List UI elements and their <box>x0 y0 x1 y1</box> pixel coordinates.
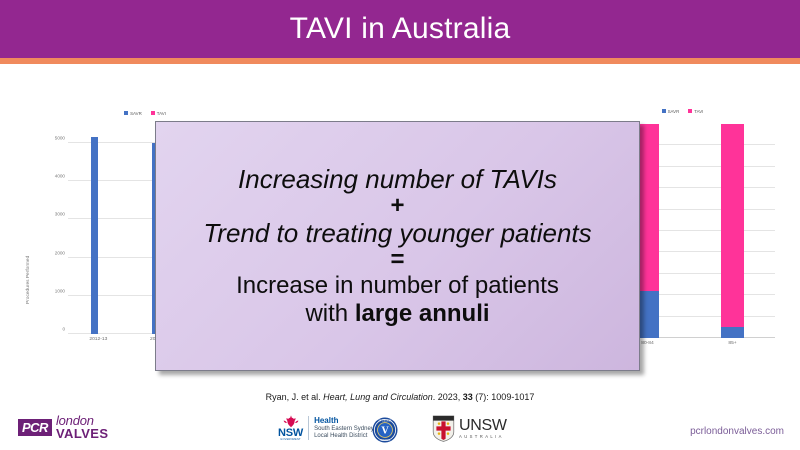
callout-line-4-prefix: with <box>305 300 354 327</box>
citation-volume: 33 <box>463 392 473 402</box>
nsw-health-word: Health <box>314 416 374 426</box>
unsw-name: UNSW <box>459 418 507 435</box>
nsw-government-block: NSW GOVERNMENT <box>278 415 303 442</box>
legend-swatch-tavi-icon <box>151 111 155 115</box>
slide-footer: PCR london VALVES NSW <box>0 410 800 450</box>
legend-label-savr: SAVR <box>130 111 142 116</box>
nsw-district-line-2: Local Health District <box>314 433 374 441</box>
header-accent-bar <box>0 58 800 64</box>
y-axis-tick-label: 0 <box>62 327 65 332</box>
y-axis-tick-label: 5000 <box>55 136 65 141</box>
legend-entry-tavi: TAVI <box>151 111 166 116</box>
callout-line-2: Trend to treating younger patients <box>166 218 629 248</box>
callout-line-4-emphasis: large annuli <box>355 300 490 327</box>
legend-swatch-savr-icon <box>662 109 666 113</box>
pcr-london-valves-logo: PCR london VALVES <box>18 414 108 440</box>
legend-label-tavi: TAVI <box>157 111 166 116</box>
legend-swatch-savr-icon <box>124 111 128 115</box>
legend-entry-savr: SAVR <box>662 109 680 114</box>
callout-line-4: with large annuli <box>166 300 629 328</box>
pcr-wordmark: london VALVES <box>56 414 108 440</box>
callout-operator-plus: + <box>166 194 629 218</box>
bar-segment-tavi-85+ <box>721 124 743 327</box>
citation: Ryan, J. et al. Heart, Lung and Circulat… <box>0 392 800 402</box>
unsw-subtitle: AUSTRALIA <box>459 435 507 439</box>
callout-line-3: Increase in number of patients <box>166 272 629 300</box>
logo-divider <box>308 416 309 440</box>
x-axis-tick-label: 85+ <box>728 341 736 346</box>
citation-journal: Heart, Lung and Circulation <box>323 392 433 402</box>
callout-line-1: Increasing number of TAVIs <box>166 164 629 194</box>
unsw-wordmark: UNSW AUSTRALIA <box>459 418 507 439</box>
bar-segment-savr-85+ <box>721 327 743 338</box>
callout-textbox: Increasing number of TAVIs + Trend to tr… <box>155 121 640 371</box>
unsw-crest-icon <box>432 415 455 442</box>
callout-operator-equals: = <box>166 248 629 272</box>
y-axis-tick-label: 4000 <box>55 174 65 179</box>
y-axis-tick-label: 2000 <box>55 250 65 255</box>
svg-text:ST GEORGE: ST GEORGE <box>379 419 392 422</box>
citation-authors: Ryan, J. et al. <box>266 392 324 402</box>
legend-label-tavi: TAVI <box>694 109 703 114</box>
nsw-health-text-block: Health South Eastern Sydney Local Health… <box>314 416 374 441</box>
stacked-bar-85+ <box>721 124 743 338</box>
pcr-valves-text: VALVES <box>56 427 108 440</box>
page-title: TAVI in Australia <box>0 0 800 58</box>
chart-left-yaxis-title: Procedures Performed <box>26 256 31 304</box>
y-axis-tick-label: 3000 <box>55 212 65 217</box>
svg-text:HOSPITAL: HOSPITAL <box>380 439 391 442</box>
legend-swatch-tavi-icon <box>688 109 692 113</box>
nsw-health-logo: NSW GOVERNMENT Health South Eastern Sydn… <box>278 415 374 442</box>
unsw-logo: UNSW AUSTRALIA <box>432 415 507 442</box>
legend-entry-tavi: TAVI <box>688 109 703 114</box>
nsw-government-word: GOVERNMENT <box>280 439 301 442</box>
chart-left-legend: SAVR TAVI <box>20 108 270 118</box>
svg-text:V: V <box>381 426 390 436</box>
citation-year: . 2023, <box>433 392 463 402</box>
footer-url: pcrlondonvalves.com <box>690 426 784 437</box>
x-axis-tick-label: 80-84 <box>641 341 654 346</box>
chart-right-legend: SAVR TAVI <box>565 106 800 116</box>
citation-issue-pages: (7): 1009-1017 <box>473 392 535 402</box>
legend-label-savr: SAVR <box>668 109 680 114</box>
bar-savr-2012-13 <box>91 137 98 334</box>
x-axis-tick-label: 2012-13 <box>89 337 107 342</box>
nsw-district-line-1: South Eastern Sydney <box>314 426 374 434</box>
y-axis-tick-label: 1000 <box>55 288 65 293</box>
hospital-seal-logo: V ST GEORGE HOSPITAL <box>372 417 398 443</box>
legend-entry-savr: SAVR <box>124 111 142 116</box>
pcr-mark: PCR <box>18 419 52 436</box>
